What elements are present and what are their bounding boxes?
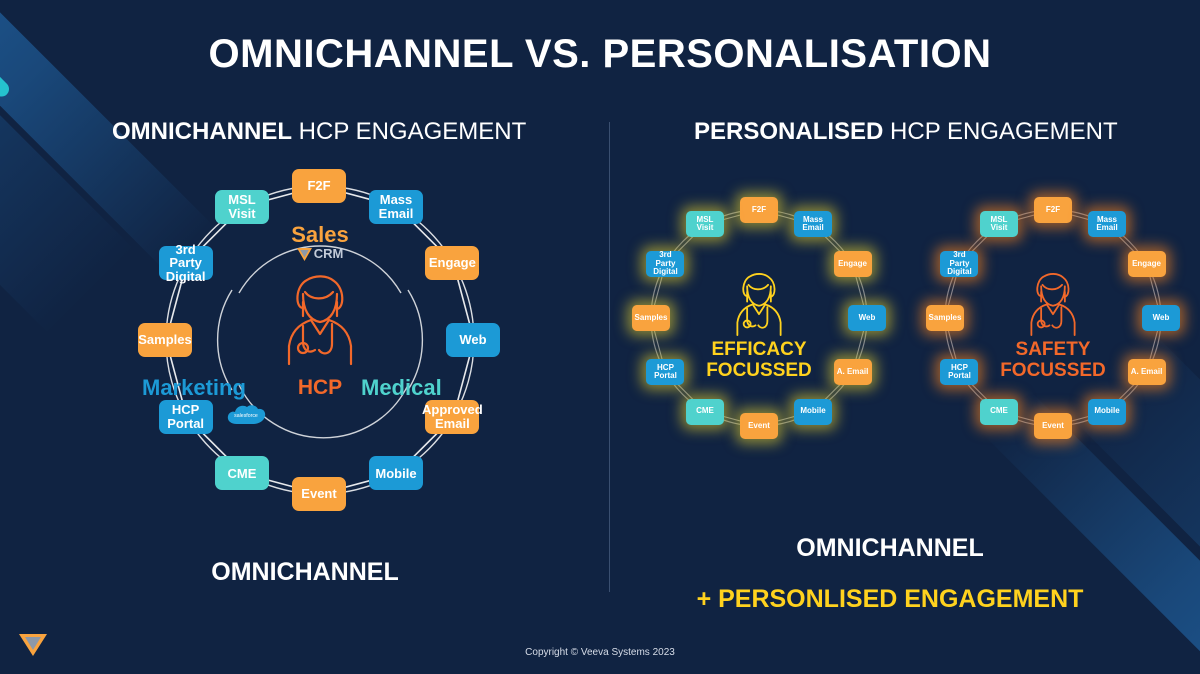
efficacy-node-web[interactable]: Web <box>848 305 886 331</box>
omnichannel-node-approved-email[interactable]: Approved Email <box>425 400 479 434</box>
efficacy-node-hcp-portal[interactable]: HCP Portal <box>646 359 684 385</box>
safety-node-engage[interactable]: Engage <box>1128 251 1166 277</box>
omnichannel-node-web[interactable]: Web <box>446 323 500 357</box>
doctor-icon <box>277 268 363 368</box>
sales-text: Sales <box>291 222 349 247</box>
page-title: OMNICHANNEL VS. PERSONALISATION <box>0 32 1200 77</box>
efficacy-node-mass-email[interactable]: Mass Email <box>794 211 832 237</box>
omnichannel-node-cme[interactable]: CME <box>215 456 269 490</box>
salesforce-cloud-logo: salesforce <box>226 403 266 427</box>
safety-node-a-email[interactable]: A. Email <box>1128 359 1166 385</box>
slide-canvas: OMNICHANNEL VS. PERSONALISATION OMNICHAN… <box>0 0 1200 674</box>
svg-text:salesforce: salesforce <box>234 413 258 419</box>
efficacy-node-mobile[interactable]: Mobile <box>794 399 832 425</box>
omnichannel-node-mass-email[interactable]: Mass Email <box>369 190 423 224</box>
efficacy-node-samples[interactable]: Samples <box>632 305 670 331</box>
safety-node-hcp-portal[interactable]: HCP Portal <box>940 359 978 385</box>
safety-node-samples[interactable]: Samples <box>926 305 964 331</box>
efficacy-node-a-email[interactable]: A. Email <box>834 359 872 385</box>
right-column-heading: PERSONALISED HCP ENGAGEMENT <box>694 118 1118 146</box>
right-heading-bold: PERSONALISED <box>694 118 883 145</box>
right-footer-line1: OMNICHANNEL <box>610 534 1170 563</box>
efficacy-node-msl-visit[interactable]: MSL Visit <box>686 211 724 237</box>
efficacy-node-event[interactable]: Event <box>740 413 778 439</box>
omnichannel-node-mobile[interactable]: Mobile <box>369 456 423 490</box>
left-heading-bold: OMNICHANNEL <box>112 118 292 145</box>
efficacy-node-cme[interactable]: CME <box>686 399 724 425</box>
omnichannel-node-hcp-portal[interactable]: HCP Portal <box>159 400 213 434</box>
safety-node-event[interactable]: Event <box>1034 413 1072 439</box>
efficacy-persona-wheel: EFFICACY FOCUSSED F2FMass EmailEngageWeb… <box>617 188 901 460</box>
omnichannel-node-msl-visit[interactable]: MSL Visit <box>215 190 269 224</box>
segment-label-hcp: HCP <box>120 376 520 400</box>
doctor-icon <box>729 268 789 338</box>
safety-node-msl-visit[interactable]: MSL Visit <box>980 211 1018 237</box>
left-footer-label: OMNICHANNEL <box>0 558 610 587</box>
omnichannel-node-3rd-party-digital[interactable]: 3rd Party Digital <box>159 246 213 280</box>
left-column-heading: OMNICHANNEL HCP ENGAGEMENT <box>112 118 526 146</box>
efficacy-node-3rd-party-digital[interactable]: 3rd Party Digital <box>646 251 684 277</box>
safety-label-line1: SAFETY <box>911 340 1195 361</box>
efficacy-node-engage[interactable]: Engage <box>834 251 872 277</box>
omnichannel-node-samples[interactable]: Samples <box>138 323 192 357</box>
efficacy-node-f2f[interactable]: F2F <box>740 197 778 223</box>
safety-node-cme[interactable]: CME <box>980 399 1018 425</box>
right-footer-line2: + PERSONLISED ENGAGEMENT <box>600 585 1180 614</box>
safety-node-3rd-party-digital[interactable]: 3rd Party Digital <box>940 251 978 277</box>
veeva-v-icon <box>297 247 312 261</box>
safety-node-web[interactable]: Web <box>1142 305 1180 331</box>
omnichannel-wheel: Sales CRM Marketing salesforce Medical H… <box>120 160 520 520</box>
veeva-logo <box>16 624 50 658</box>
safety-node-f2f[interactable]: F2F <box>1034 197 1072 223</box>
copyright-text: Copyright © Veeva Systems 2023 <box>0 647 1200 658</box>
omnichannel-node-event[interactable]: Event <box>292 477 346 511</box>
crm-text: CRM <box>314 246 344 261</box>
left-heading-rest: HCP ENGAGEMENT <box>292 118 526 145</box>
right-heading-rest: HCP ENGAGEMENT <box>883 118 1117 145</box>
doctor-icon <box>1023 268 1083 338</box>
omnichannel-node-f2f[interactable]: F2F <box>292 169 346 203</box>
safety-node-mobile[interactable]: Mobile <box>1088 399 1126 425</box>
safety-persona-wheel: SAFETY FOCUSSED F2FMass EmailEngageWebA.… <box>911 188 1195 460</box>
omnichannel-node-engage[interactable]: Engage <box>425 246 479 280</box>
column-divider <box>609 122 610 592</box>
safety-node-mass-email[interactable]: Mass Email <box>1088 211 1126 237</box>
efficacy-label-line1: EFFICACY <box>617 340 901 361</box>
